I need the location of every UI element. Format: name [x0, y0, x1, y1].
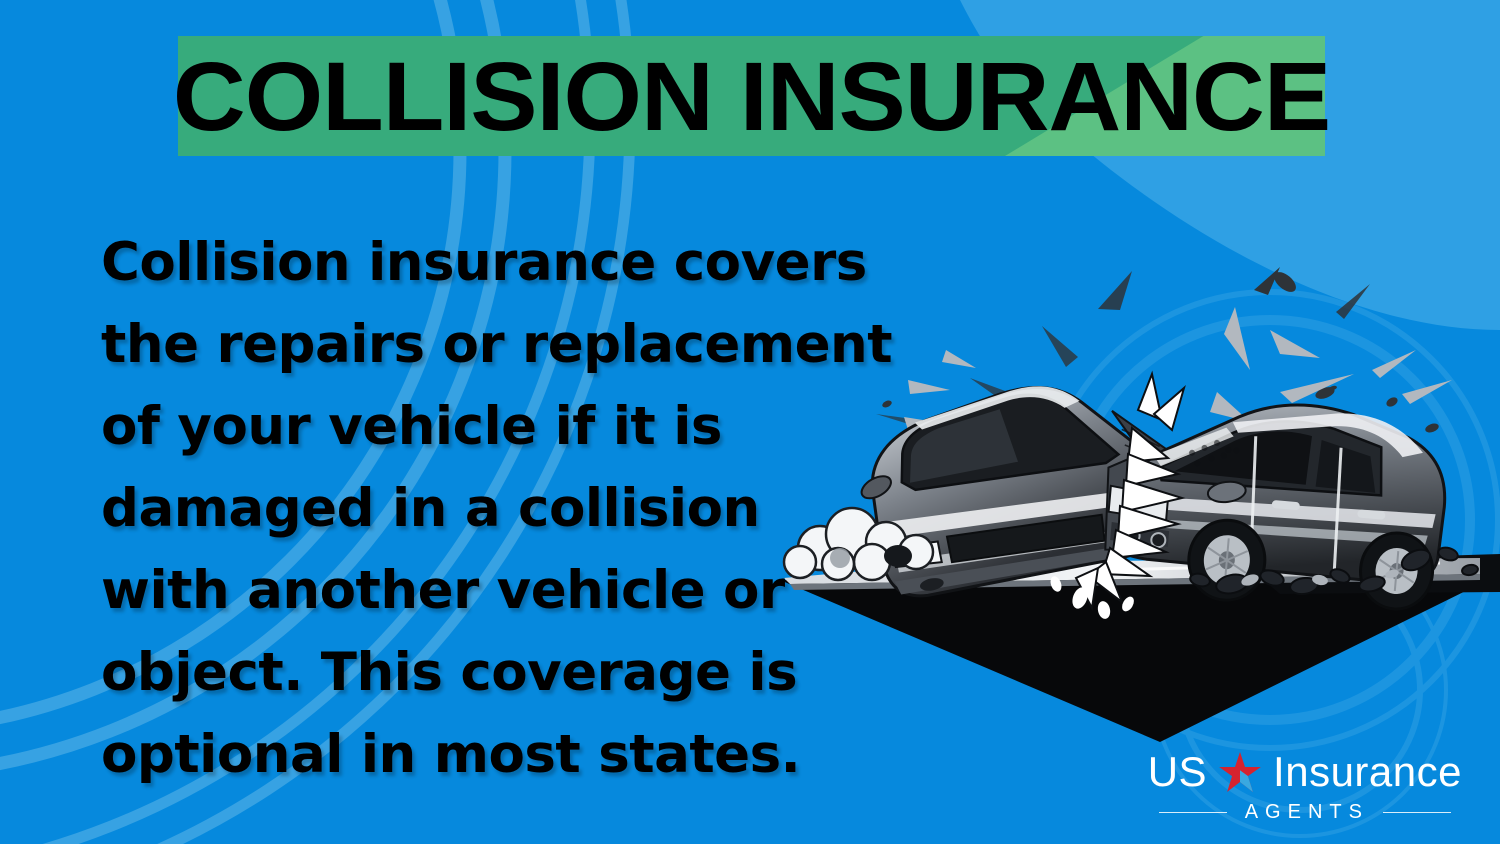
- logo-agents-text: AGENTS: [1241, 802, 1369, 822]
- body-paragraph: Collision insurance covers the repairs o…: [101, 222, 891, 796]
- logo-rule-right: [1383, 812, 1451, 813]
- star-icon: [1219, 752, 1261, 792]
- body-line: the repairs or replacement: [101, 304, 891, 386]
- logo-primary-row: US Insurance: [1148, 751, 1462, 793]
- body-line: of your vehicle if it is: [101, 386, 891, 468]
- body-line: object. This coverage is: [101, 632, 891, 714]
- us-insurance-agents-logo[interactable]: US Insurance AGENTS: [1148, 751, 1462, 822]
- logo-us-text: US: [1148, 751, 1207, 793]
- body-line: damaged in a collision: [101, 468, 891, 550]
- page-title: COLLISION INSURANCE: [155, 36, 1348, 156]
- logo-tagline-row: AGENTS: [1148, 802, 1462, 822]
- body-line: optional in most states.: [101, 714, 891, 796]
- body-line: with another vehicle or: [101, 550, 891, 632]
- logo-insurance-text: Insurance: [1273, 751, 1462, 793]
- infographic-poster: COLLISION INSURANCE: [0, 0, 1500, 844]
- logo-rule-left: [1159, 812, 1227, 813]
- body-line: Collision insurance covers: [101, 222, 891, 304]
- title-banner: COLLISION INSURANCE: [178, 36, 1325, 156]
